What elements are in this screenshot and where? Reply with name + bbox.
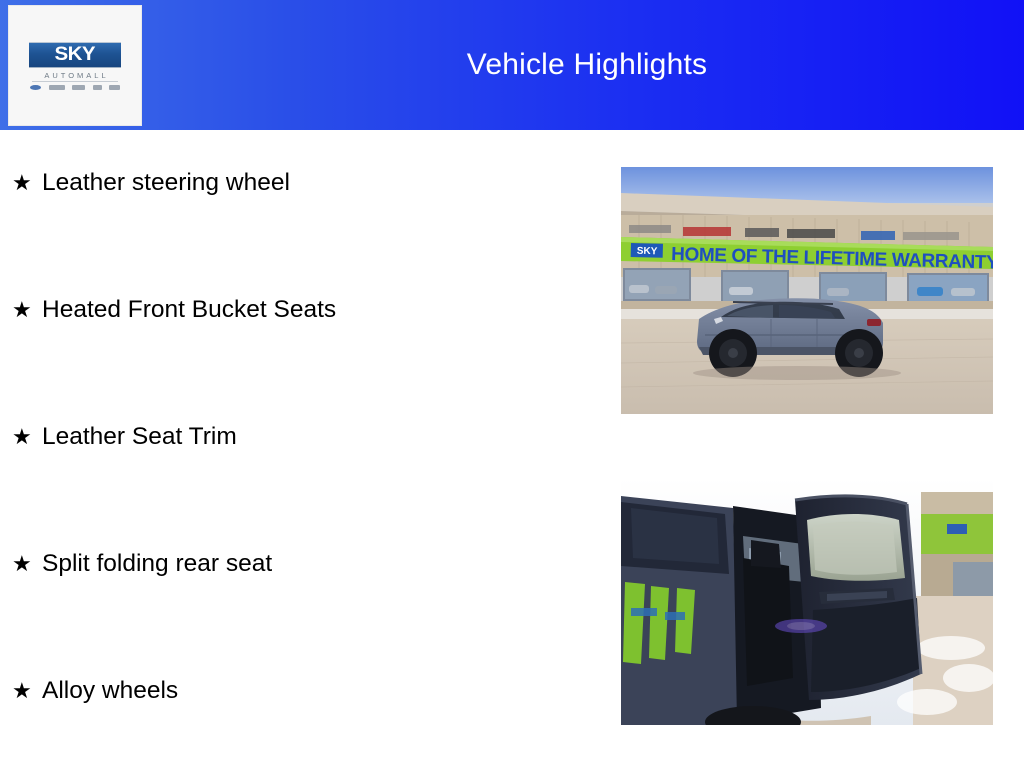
list-item: ★ Leather steering wheel bbox=[0, 168, 600, 295]
list-item: ★ Split folding rear seat bbox=[0, 549, 600, 676]
list-item: ★ Heated Front Bucket Seats bbox=[0, 295, 600, 422]
list-item: ★ Leather Seat Trim bbox=[0, 422, 600, 549]
star-icon: ★ bbox=[12, 295, 42, 325]
list-item-label: Leather Seat Trim bbox=[42, 422, 237, 452]
logo-banner: SKY bbox=[29, 42, 121, 68]
vehicle-exterior-photo: SKY HOME OF THE LIFETIME WARRANTY bbox=[621, 167, 993, 414]
brand-chrysler-icon bbox=[49, 85, 65, 90]
svg-text:SKY: SKY bbox=[637, 246, 658, 258]
dealer-logo: SKY AUTOMALL bbox=[8, 5, 142, 126]
brand-dodge-icon bbox=[72, 85, 85, 90]
list-item-label: Leather steering wheel bbox=[42, 168, 290, 198]
brand-jeep-icon bbox=[93, 85, 102, 90]
highlights-list: ★ Leather steering wheel ★ Heated Front … bbox=[0, 130, 600, 768]
header-bar: Vehicle Highlights bbox=[0, 0, 1024, 130]
logo-subtitle: AUTOMALL bbox=[41, 71, 108, 80]
brand-ram-icon bbox=[109, 85, 120, 90]
star-icon: ★ bbox=[12, 676, 42, 706]
star-icon: ★ bbox=[12, 422, 42, 452]
list-item: ★ Alloy wheels bbox=[0, 676, 600, 768]
brand-ford-icon bbox=[30, 85, 41, 90]
star-icon: ★ bbox=[12, 549, 42, 579]
vehicle-interior-photo bbox=[621, 478, 993, 725]
slide-vehicle-highlights: Vehicle Highlights SKY AUTOMALL ★ Leathe… bbox=[0, 0, 1024, 768]
list-item-label: Heated Front Bucket Seats bbox=[42, 295, 336, 325]
logo-divider bbox=[32, 81, 118, 82]
logo-wordmark: SKY bbox=[55, 44, 96, 66]
list-item-label: Split folding rear seat bbox=[42, 549, 272, 579]
list-item-label: Alloy wheels bbox=[42, 676, 178, 706]
page-title: Vehicle Highlights bbox=[150, 0, 1024, 130]
star-icon: ★ bbox=[12, 168, 42, 198]
brand-logos-row bbox=[30, 85, 120, 90]
